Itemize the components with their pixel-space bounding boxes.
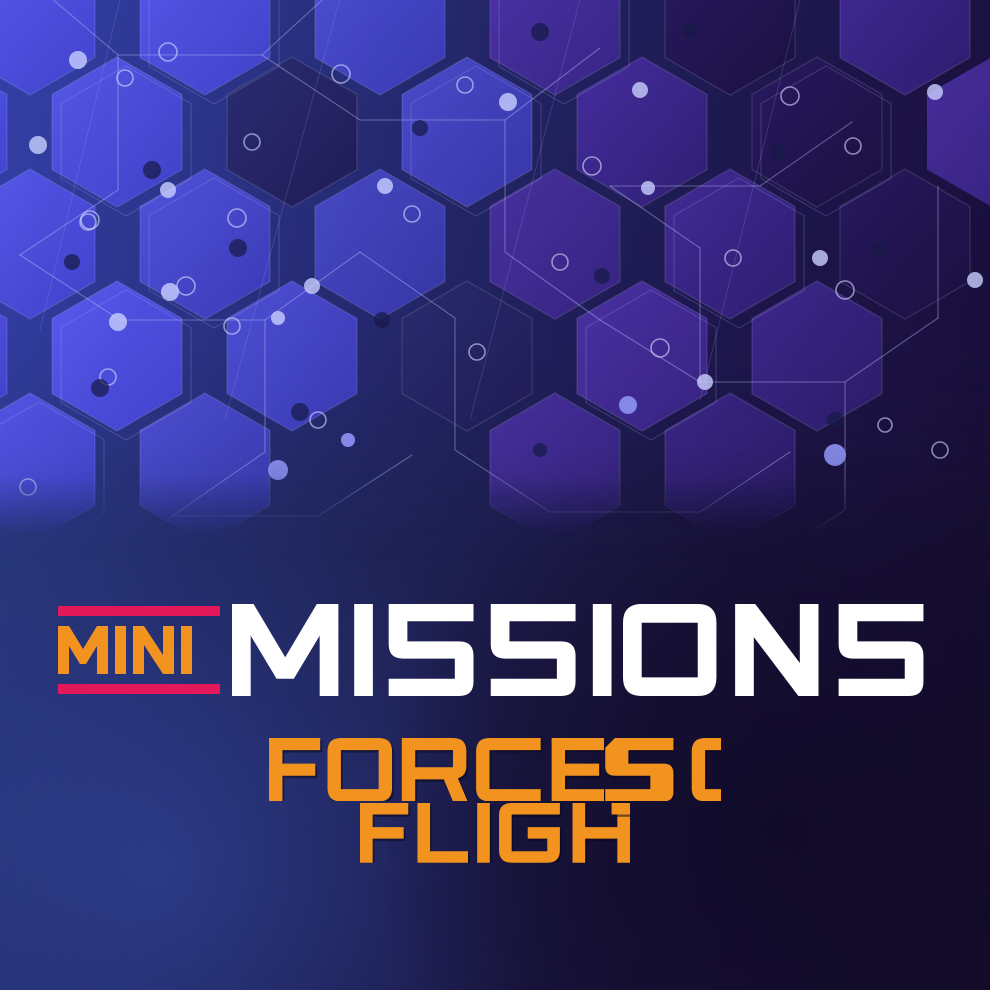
mini-logo-lockup: MINI xyxy=(58,606,220,694)
poster-canvas: MINI xyxy=(0,0,990,990)
wordmark: MINI xyxy=(0,600,990,700)
subtitle-line-2 xyxy=(360,803,630,863)
subtitle-block: FORCES OF FLIGHT xyxy=(0,738,990,863)
mini-rule-bottom xyxy=(58,684,220,694)
subtitle-line-1 xyxy=(269,738,721,801)
missions-wordmark: MISSIONS xyxy=(232,604,990,696)
mini-rule-top xyxy=(58,606,220,616)
mini-wordmark xyxy=(58,616,220,684)
